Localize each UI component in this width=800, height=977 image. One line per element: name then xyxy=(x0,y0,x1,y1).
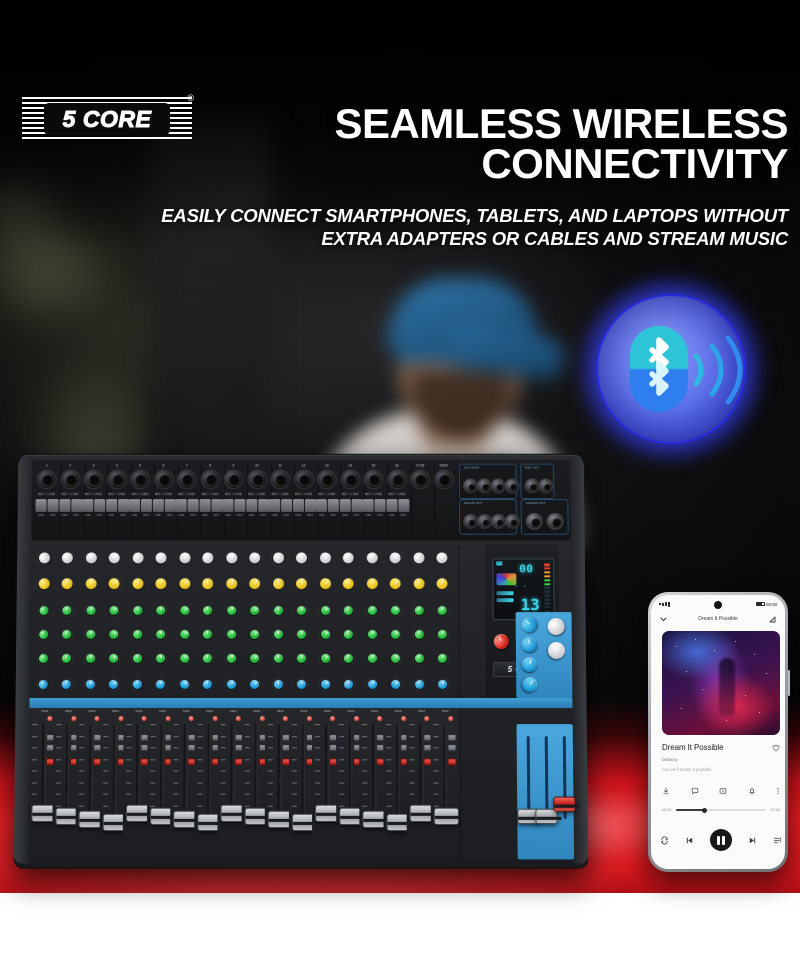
lcd-icon-strip xyxy=(496,573,516,585)
peak-label: PEAK xyxy=(300,710,307,713)
group-fader-strip-2 xyxy=(538,730,555,855)
peak-led xyxy=(189,716,194,721)
combo-jack[interactable] xyxy=(317,470,337,490)
peak-led xyxy=(47,716,52,721)
status-time: 08:08 xyxy=(766,602,777,607)
peak-led xyxy=(307,716,312,721)
fader-scale xyxy=(55,724,64,821)
player-header-bar: Dream It Possible xyxy=(651,612,785,626)
subheadline-line-1: EASILY CONNECT SMARTPHONES, TABLETS, AND… xyxy=(161,205,788,226)
peak-label: PEAK xyxy=(183,710,190,713)
time-total: 03:24 xyxy=(770,808,780,812)
logo-text: 5 CORE xyxy=(63,106,152,133)
peak-led xyxy=(354,716,359,721)
meter-segment xyxy=(544,598,550,601)
lcd-separator: - - xyxy=(515,583,528,590)
meter-segment xyxy=(544,567,550,570)
fader-track[interactable] xyxy=(527,736,531,819)
peak-led xyxy=(330,716,335,721)
fader-track[interactable] xyxy=(112,724,116,821)
line-switch-label: LINE xyxy=(152,514,163,517)
product-banner: 5 CORE ® SEAMLESS WIRELESS CONNECTIVITY … xyxy=(0,0,800,977)
peak-label: PEAK xyxy=(371,710,378,713)
xlr-output-right[interactable] xyxy=(547,513,564,530)
fader-track[interactable] xyxy=(278,724,282,821)
peak-label: PEAK xyxy=(159,710,166,713)
combo-jack[interactable] xyxy=(224,470,244,490)
bell-icon[interactable] xyxy=(748,787,756,795)
smartphone: 08:08 Dream It Possible xyxy=(648,592,788,872)
fader-scale xyxy=(244,724,252,821)
line-switch-label: LINE xyxy=(82,514,93,517)
io-jack[interactable] xyxy=(477,478,492,493)
peak-label: PEAK xyxy=(395,710,402,713)
transport-controls xyxy=(660,829,782,851)
line-switch-label: LINE xyxy=(293,514,304,517)
peak-label: PEAK xyxy=(230,710,237,713)
fader-strip-19-20: PEAK xyxy=(430,708,461,859)
video-icon[interactable] xyxy=(719,787,727,795)
fader-track[interactable] xyxy=(160,724,164,821)
peak-label: PEAK xyxy=(253,710,260,713)
bluetooth-badge xyxy=(570,278,775,460)
io-jack[interactable] xyxy=(505,514,520,529)
logo-plate: 5 CORE xyxy=(44,103,170,135)
io-jack[interactable] xyxy=(491,478,506,493)
io-jack[interactable] xyxy=(463,478,478,493)
meter-segment xyxy=(544,591,550,594)
combo-jack[interactable] xyxy=(177,470,197,490)
more-icon[interactable] xyxy=(776,787,780,795)
peak-led xyxy=(95,716,100,721)
peak-led xyxy=(236,716,241,721)
line-switch-label: LINE xyxy=(386,514,397,517)
io-label: STEREO OUT xyxy=(526,501,546,505)
master-aux-knob-4[interactable] xyxy=(519,674,540,695)
rear-channel-19-20: 19/20 xyxy=(429,464,459,537)
headline-line-2: CONNECTIVITY xyxy=(240,144,788,184)
line-switch-label: LINE xyxy=(176,514,187,517)
cast-icon[interactable] xyxy=(769,616,776,623)
peak-label: PEAK xyxy=(277,710,284,713)
master-aux-knob-1[interactable] xyxy=(519,614,540,635)
line-switch[interactable] xyxy=(36,499,47,512)
peak-led xyxy=(142,716,147,721)
status-right: 08:08 xyxy=(756,602,778,607)
camera-notch xyxy=(714,601,722,609)
track-title: Dream It Possible xyxy=(662,743,723,752)
line-switch[interactable] xyxy=(152,499,163,512)
combo-jack[interactable] xyxy=(294,470,314,490)
combo-jack[interactable] xyxy=(387,470,407,490)
fader-track[interactable] xyxy=(207,724,211,821)
fader-track[interactable] xyxy=(443,724,447,821)
progress-fill xyxy=(676,809,705,811)
io-label: AUX SEND xyxy=(464,466,480,470)
peak-label: PEAK xyxy=(41,710,48,713)
queue-icon[interactable] xyxy=(773,836,782,845)
xlr-output-left[interactable] xyxy=(526,513,543,530)
track-artist: Delacey xyxy=(662,757,678,762)
meter-segment xyxy=(544,571,550,574)
next-icon[interactable] xyxy=(748,836,757,845)
peak-label: PEAK xyxy=(89,710,96,713)
io-jack[interactable] xyxy=(538,478,553,493)
mute-switch[interactable] xyxy=(447,744,456,751)
line-switch-label: LINE xyxy=(339,514,350,517)
meter-segment xyxy=(544,587,550,590)
subheadline: EASILY CONNECT SMARTPHONES, TABLETS, AND… xyxy=(110,205,788,250)
peak-led xyxy=(118,716,123,721)
page-title: SEAMLESS WIRELESS CONNECTIVITY xyxy=(240,104,788,185)
combo-jack[interactable] xyxy=(434,470,454,490)
peak-led xyxy=(259,716,264,721)
meter-segment xyxy=(544,606,550,609)
peak-label: PEAK xyxy=(206,710,213,713)
fader-scale xyxy=(173,724,181,821)
combo-jack[interactable] xyxy=(247,470,267,490)
combo-jack[interactable] xyxy=(37,470,57,490)
line-switch-label: LINE xyxy=(59,514,70,517)
line-switch[interactable] xyxy=(293,499,304,512)
line-switch-label: LINE xyxy=(129,514,140,517)
player-action-row xyxy=(662,787,780,795)
line-switch[interactable] xyxy=(316,499,327,512)
battery-icon xyxy=(756,602,765,607)
fader-track[interactable] xyxy=(545,736,549,819)
line-switch[interactable] xyxy=(176,499,187,512)
line-switch[interactable] xyxy=(199,499,210,512)
phone-side-button[interactable] xyxy=(788,670,790,696)
peak-led xyxy=(165,716,170,721)
master-aux-knob-2[interactable] xyxy=(520,635,538,653)
fader-track[interactable] xyxy=(349,724,353,821)
line-switch-label: LINE xyxy=(363,514,374,517)
master-section xyxy=(516,612,574,859)
player-header-title: Dream It Possible xyxy=(698,616,737,622)
peak-label: PEAK xyxy=(65,710,72,713)
fader-scale xyxy=(291,724,299,821)
combo-jack[interactable] xyxy=(270,470,290,490)
fader-scale xyxy=(197,724,205,821)
combo-jack[interactable] xyxy=(130,470,150,490)
fader-scale xyxy=(386,724,394,821)
combo-jack[interactable] xyxy=(340,470,360,490)
phone-screen: 08:08 Dream It Possible xyxy=(651,595,785,869)
album-art xyxy=(662,631,780,735)
peak-led xyxy=(424,716,429,721)
fader-scale xyxy=(433,724,442,821)
fader-scale xyxy=(268,724,276,821)
progress-handle[interactable] xyxy=(702,808,707,813)
fader-scale xyxy=(79,724,88,821)
registered-mark: ® xyxy=(187,93,194,103)
combo-jack[interactable] xyxy=(153,470,173,490)
peak-label: PEAK xyxy=(348,710,355,713)
solo-switch[interactable] xyxy=(447,758,456,765)
peak-led xyxy=(212,716,217,721)
lcd-bar-1 xyxy=(496,591,513,595)
fader-track[interactable] xyxy=(396,724,400,821)
io-jack[interactable] xyxy=(477,514,492,529)
brand-logo: 5 CORE ® xyxy=(22,97,192,141)
line-switch-label: LINE xyxy=(269,514,280,517)
io-label: GROUP OUT xyxy=(464,501,483,505)
bluetooth-icon xyxy=(642,336,676,402)
peak-led xyxy=(283,716,288,721)
peak-led xyxy=(71,716,76,721)
previous-icon[interactable] xyxy=(685,836,694,845)
meter-segment xyxy=(544,579,550,582)
line-switch[interactable] xyxy=(129,499,140,512)
group-fader-strip-1 xyxy=(520,730,537,855)
line-switch[interactable] xyxy=(339,499,350,512)
program-knob[interactable] xyxy=(491,631,512,651)
audio-mixer: 1MIC / LINELINEINST2MIC / LINELINEINST3M… xyxy=(14,454,589,869)
peak-label: PEAK xyxy=(112,710,119,713)
combo-jack[interactable] xyxy=(364,470,384,490)
line-switch[interactable] xyxy=(246,499,257,512)
peak-led xyxy=(401,716,406,721)
master-knob-panel xyxy=(516,612,573,698)
master-aux-knob-3[interactable] xyxy=(521,656,538,673)
track-lyric: And we'll dream it possible xyxy=(662,767,711,772)
line-switch[interactable] xyxy=(222,499,233,512)
lcd-screen: FX 00 - - 13 xyxy=(492,558,554,620)
master-fader-strip xyxy=(556,730,573,855)
io-jack[interactable] xyxy=(505,478,520,493)
comment-icon[interactable] xyxy=(691,787,699,795)
blue-divider-bar xyxy=(29,698,572,708)
line-switch-label: LINE xyxy=(316,514,327,517)
peak-label: PEAK xyxy=(324,710,331,713)
peak-label: PEAK xyxy=(418,710,425,713)
channel-fader[interactable] xyxy=(433,808,458,825)
io-block-rec-out: REC OUT xyxy=(520,464,554,499)
meter-segment xyxy=(544,575,550,578)
progress-row[interactable]: 00:52 03:24 xyxy=(662,808,780,812)
fader-track[interactable] xyxy=(302,724,306,821)
fader-track[interactable] xyxy=(89,724,93,821)
rear-io-panel: 1MIC / LINELINEINST2MIC / LINELINEINST3M… xyxy=(31,460,571,541)
fader-scale xyxy=(339,724,347,821)
subheadline-line-2: EXTRA ADAPTERS OR CABLES AND STREAM MUSI… xyxy=(321,228,788,249)
line-switch[interactable] xyxy=(363,499,374,512)
io-jack[interactable] xyxy=(524,478,539,493)
progress-slider[interactable] xyxy=(676,809,767,811)
meter-segment xyxy=(544,594,550,597)
master-fader-panel xyxy=(517,724,575,859)
master-fader[interactable] xyxy=(553,797,575,812)
io-block-stereo-out: STEREO OUT xyxy=(521,499,569,535)
io-label: REC OUT xyxy=(525,466,539,470)
fader-track[interactable] xyxy=(65,724,69,821)
line-switch[interactable] xyxy=(59,499,70,512)
heart-icon[interactable] xyxy=(772,744,780,752)
fader-scale xyxy=(102,724,111,821)
meter-segment xyxy=(544,563,550,566)
io-jack[interactable] xyxy=(491,514,506,529)
line-switch[interactable] xyxy=(82,499,93,512)
io-block-aux-send: AUX SEND xyxy=(459,464,517,499)
fader-track[interactable] xyxy=(183,724,187,821)
meter-segment xyxy=(544,602,550,605)
combo-jack[interactable] xyxy=(60,470,80,490)
fader-scale xyxy=(150,724,159,821)
time-elapsed: 00:52 xyxy=(662,808,672,812)
combo-jack[interactable] xyxy=(410,470,430,490)
master-phones-knob-2[interactable] xyxy=(546,640,568,662)
line-switch[interactable] xyxy=(106,499,117,512)
fader-scale xyxy=(362,724,370,821)
line-switch-label: LINE xyxy=(222,514,233,517)
combo-jack[interactable] xyxy=(83,470,103,490)
level-meter xyxy=(544,563,550,617)
meter-segment xyxy=(544,583,550,586)
pfl-switch[interactable] xyxy=(447,734,456,741)
download-icon[interactable] xyxy=(662,787,670,795)
line-switch[interactable] xyxy=(386,499,397,512)
channel-number: 19/20 xyxy=(429,464,459,468)
signal-waves-icon xyxy=(688,330,756,410)
peak-led xyxy=(377,716,382,721)
line-switch-label: LINE xyxy=(35,514,46,517)
combo-jack[interactable] xyxy=(107,470,127,490)
peak-led xyxy=(448,716,453,721)
track-info-row: Dream It Possible xyxy=(662,743,780,752)
line-switch[interactable] xyxy=(269,499,280,512)
pause-icon[interactable] xyxy=(710,829,732,851)
line-switch-label: LINE xyxy=(199,514,210,517)
combo-jack[interactable] xyxy=(200,470,220,490)
peak-label: PEAK xyxy=(442,710,449,713)
lcd-mode-badge: FX xyxy=(496,561,502,565)
line-switch-label: LINE xyxy=(246,514,257,517)
line-switch-label: LINE xyxy=(106,514,117,517)
repeat-icon[interactable] xyxy=(660,836,669,845)
lcd-program-code: 00 xyxy=(519,562,533,575)
lcd-bar-2 xyxy=(497,598,514,602)
chevron-down-icon[interactable] xyxy=(660,617,667,622)
peak-label: PEAK xyxy=(136,710,143,713)
fader-track[interactable] xyxy=(254,724,258,821)
io-jack[interactable] xyxy=(463,514,478,529)
io-block-group-out: GROUP OUT xyxy=(459,499,517,535)
master-phones-knob-1[interactable] xyxy=(545,616,567,638)
signal-icons xyxy=(659,602,670,607)
